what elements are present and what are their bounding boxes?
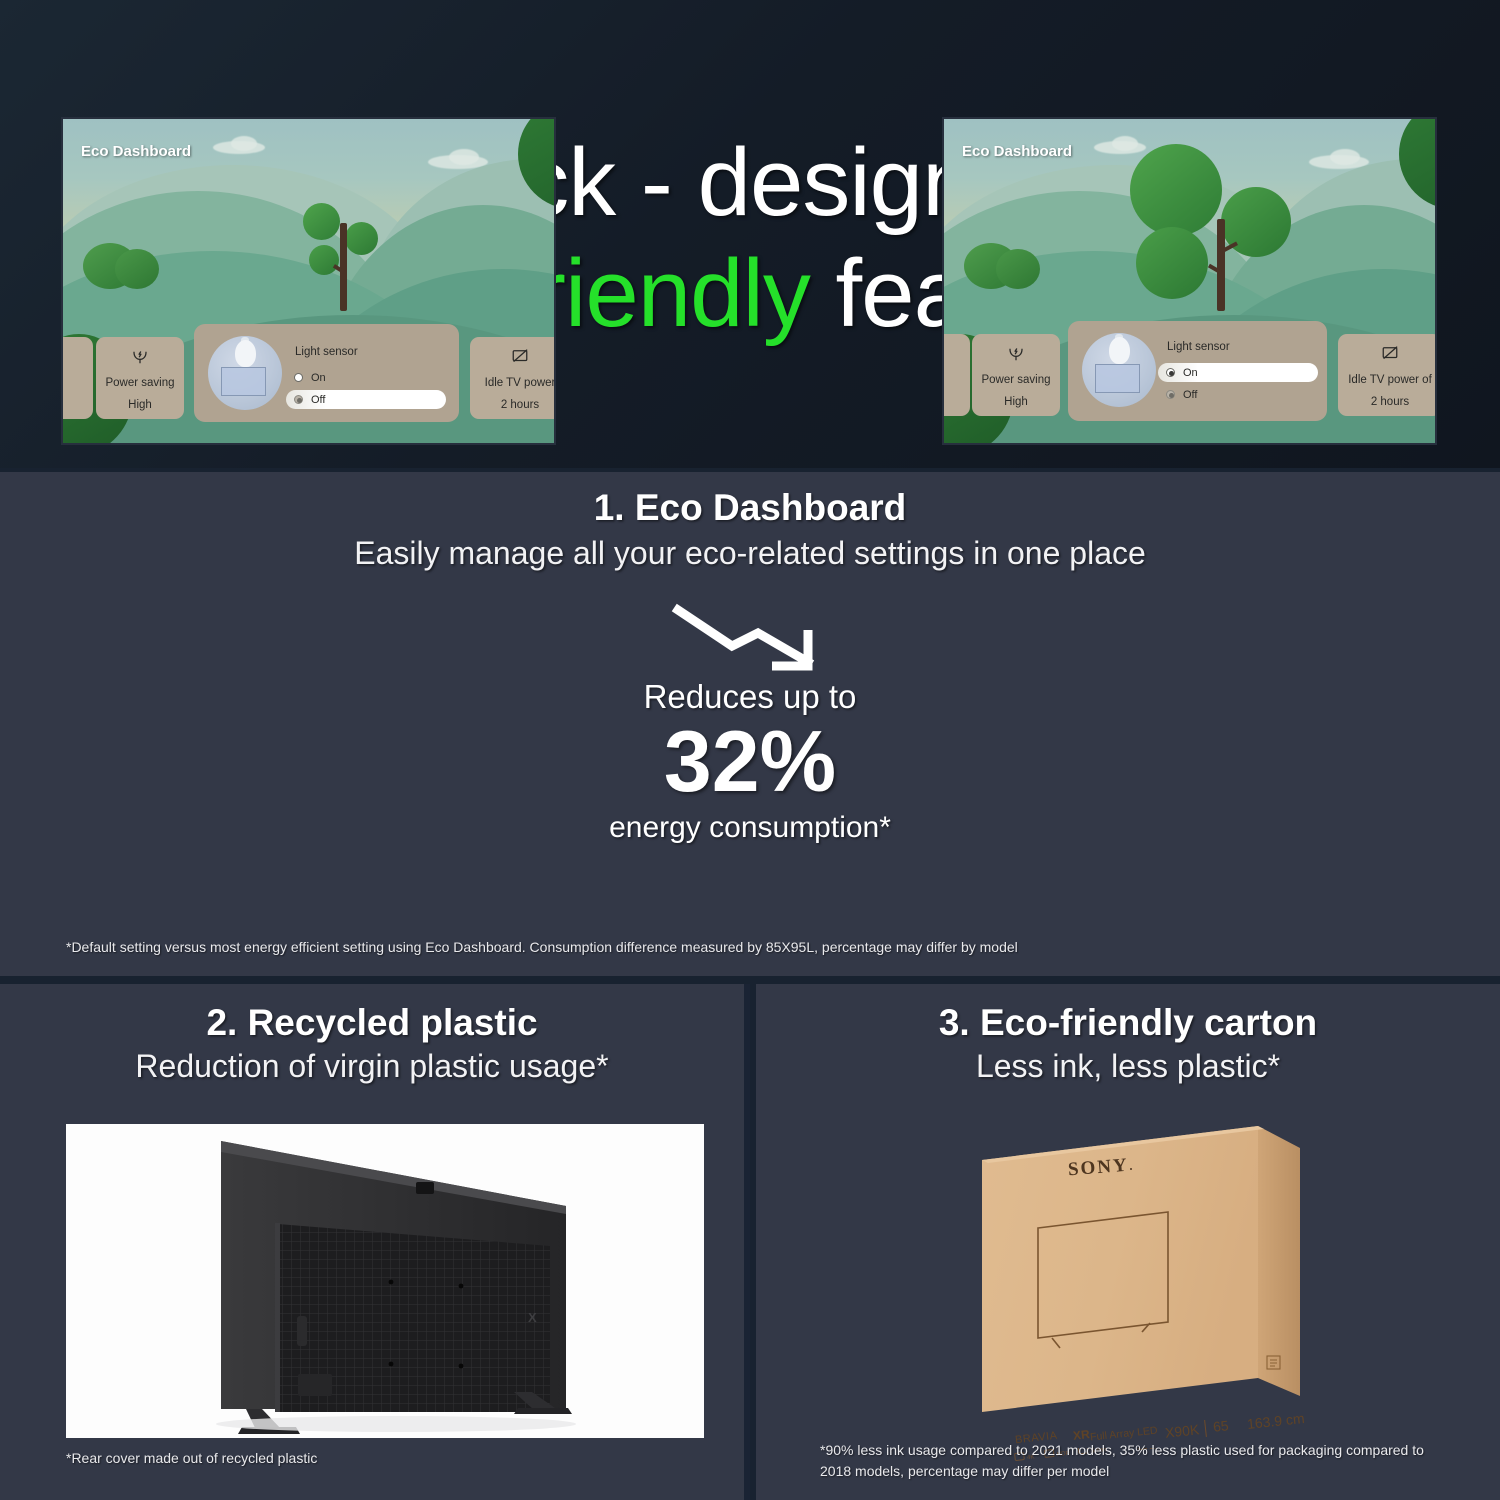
arrow-down-trend-icon: [576, 600, 924, 676]
idle-tv-power-value: 2 hours: [1338, 396, 1435, 408]
energy-reduction-stat: Reduces up to 32% energy consumption*: [576, 600, 924, 845]
tv-screen-before: Eco Dashboard Power saving High Light se…: [63, 119, 554, 443]
option-on-label: On: [1183, 367, 1198, 379]
idle-tv-power-label: Idle TV power of: [1338, 374, 1435, 386]
section2-title: 2. Recycled plastic: [0, 1002, 744, 1044]
radio-off-icon: [1166, 390, 1175, 399]
tree-leaf-icon: [1130, 144, 1222, 236]
card-partial-left[interactable]: [63, 337, 93, 419]
stat-top-text: Reduces up to: [576, 678, 924, 716]
section3-subtitle: Less ink, less plastic*: [756, 1048, 1500, 1085]
tree-trunk: [1217, 219, 1225, 311]
idle-tv-power-value: 2 hours: [470, 399, 554, 411]
eco-dashboard-label: Eco Dashboard: [962, 143, 1072, 160]
power-saving-leaf-icon: [96, 347, 184, 369]
section3-footnote: *90% less ink usage compared to 2021 mod…: [820, 1440, 1432, 1482]
tree-leaf-icon: [303, 203, 340, 240]
cloud-icon: [449, 149, 479, 165]
eco-pack-infographic: Eco pack - designed with eco-friendly fe…: [0, 0, 1500, 1500]
carton-recycle-glyph: [1264, 1353, 1286, 1375]
light-sensor-option-on[interactable]: On: [1158, 363, 1318, 382]
option-on-label: On: [311, 372, 326, 384]
tree-leaf-icon: [345, 222, 378, 255]
card-power-saving[interactable]: Power saving High: [972, 334, 1060, 416]
light-sensor-option-off[interactable]: Off: [286, 390, 446, 409]
radio-on-icon: [294, 373, 303, 382]
bush-icon: [115, 249, 159, 289]
bulb-glass: [235, 340, 256, 367]
light-sensor-option-on[interactable]: On: [290, 368, 440, 387]
section3-title: 3. Eco-friendly carton: [756, 1002, 1500, 1044]
carton-size-inches: 65: [1212, 1417, 1229, 1435]
bulb-glass: [1109, 337, 1130, 364]
bulb-panel: [1095, 364, 1140, 393]
radio-off-icon: [294, 395, 303, 404]
section1-title: 1. Eco Dashboard: [0, 487, 1500, 529]
card-light-sensor[interactable]: Light sensor On Off: [1068, 321, 1327, 421]
light-sensor-label: Light sensor: [295, 346, 358, 358]
cloud-icon: [1112, 136, 1138, 151]
card-light-sensor[interactable]: Light sensor On Off: [194, 324, 459, 422]
radio-on-icon: [1166, 368, 1175, 377]
light-bulb-icon: [1082, 333, 1156, 407]
eco-dashboard-label: Eco Dashboard: [81, 143, 191, 160]
tree-leaf-icon: [1136, 227, 1208, 299]
power-saving-label: Power saving: [972, 374, 1060, 386]
card-power-saving[interactable]: Power saving High: [96, 337, 184, 419]
sony-logo-dot: [1130, 1168, 1132, 1170]
card-idle-tv-power[interactable]: Idle TV power 2 hours: [470, 337, 554, 419]
tv-screen-after: Eco Dashboard Power saving High Light se…: [944, 119, 1435, 443]
screen-off-icon: [1338, 344, 1435, 366]
svg-text:X: X: [528, 1310, 537, 1325]
screen-off-icon: [470, 347, 554, 369]
bulb-panel: [221, 367, 266, 396]
tree-leaf-icon: [309, 245, 339, 275]
power-saving-value: High: [972, 396, 1060, 408]
bush-icon: [996, 249, 1040, 289]
cloud-icon: [1330, 149, 1360, 165]
section2-subtitle: Reduction of virgin plastic usage*: [0, 1048, 744, 1085]
section1-footnote: *Default setting versus most energy effi…: [66, 937, 1446, 958]
option-off-label: Off: [311, 394, 325, 406]
power-saving-value: High: [96, 399, 184, 411]
cloud-icon: [231, 136, 257, 151]
stat-bottom-text: energy consumption*: [576, 811, 924, 845]
light-sensor-label: Light sensor: [1167, 341, 1230, 353]
carton-box-illustration: SONY BRAVIA XR Full Array LED X90K 65 16…: [760, 1110, 1500, 1430]
power-saving-label: Power saving: [96, 377, 184, 389]
idle-tv-power-label: Idle TV power: [470, 377, 554, 389]
card-idle-tv-power[interactable]: Idle TV power of 2 hours: [1338, 334, 1435, 416]
stat-value: 32%: [576, 718, 924, 807]
section1-subtitle: Easily manage all your eco-related setti…: [0, 535, 1500, 572]
option-off-label: Off: [1183, 389, 1197, 401]
light-bulb-icon: [208, 336, 282, 410]
power-saving-leaf-icon: [972, 344, 1060, 366]
light-sensor-option-off[interactable]: Off: [1162, 385, 1312, 404]
tv-rear-cover-photo: X: [66, 1124, 704, 1438]
card-partial-left[interactable]: [944, 334, 970, 416]
section2-footnote: *Rear cover made out of recycled plastic: [66, 1448, 706, 1469]
